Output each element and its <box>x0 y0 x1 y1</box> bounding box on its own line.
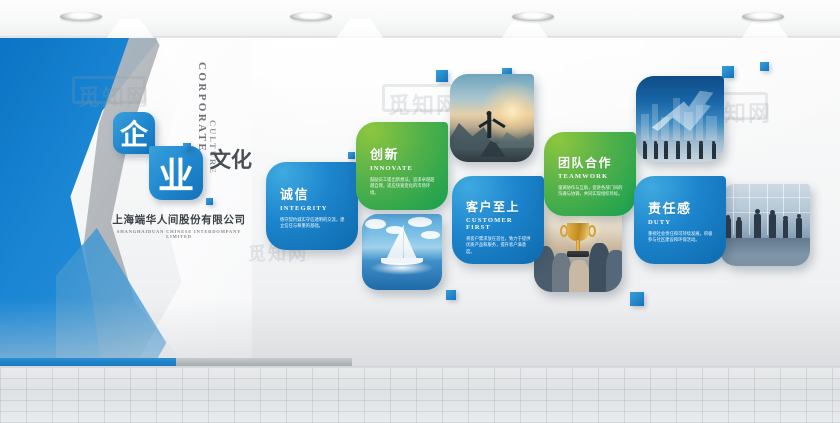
card-body-integrity: 恪守契约诚实守信透明的交流，建立信任与尊重的基础。 <box>280 218 346 231</box>
card-title-teamwork: 团队合作 <box>558 154 624 171</box>
card-body-customer-first: 将客户需求放在首位，致力于提供优质产品和服务，提升客户满意度。 <box>466 237 532 256</box>
photo-sailboat-ocean <box>362 214 442 290</box>
photo-mountain-success <box>450 74 534 162</box>
floor <box>0 368 840 423</box>
card-content-innovate: 创新 INNOVATE 鼓励员工提出新想法，追求卓越超越自我，适应快速变化的市场… <box>370 144 436 197</box>
vertical-text-corporate: CORPORATE <box>196 62 208 153</box>
title-text-wenhua: 文化 <box>210 148 256 173</box>
photo-city-image <box>636 76 724 162</box>
card-subtitle-integrity: INTEGRITY <box>280 205 346 212</box>
card-title-innovate: 创新 <box>370 144 436 163</box>
decor-square-2 <box>206 198 213 205</box>
ceiling-spotlight-3 <box>512 12 554 21</box>
decor-square-4 <box>436 70 448 82</box>
card-content-customer-first: 客户至上 CUSTOMER FIRST 将客户需求放在首位，致力于提供优质产品和… <box>466 198 532 256</box>
photo-mountain-image <box>450 74 534 162</box>
card-subtitle-innovate: INNOVATE <box>370 165 436 172</box>
photo-office-handshake <box>720 184 810 266</box>
card-subtitle-duty: DUTY <box>648 219 714 226</box>
culture-card-innovate[interactable]: 创新 INNOVATE 鼓励员工提出新想法，追求卓越超越自我，适应快速变化的市场… <box>356 122 448 210</box>
photo-office-image <box>720 184 810 266</box>
culture-wall-scene: 觅知网 觅知网 觅知网 觅知网 CORPORATE CULTURE 企 业 文化… <box>0 0 840 423</box>
card-body-innovate: 鼓励员工提出新想法，追求卓越超越自我，适应快速变化的市场环境。 <box>370 178 436 197</box>
card-subtitle-customer-first: CUSTOMER FIRST <box>466 217 532 231</box>
culture-card-customer-first[interactable]: 客户至上 CUSTOMER FIRST 将客户需求放在首位，致力于提供优质产品和… <box>452 176 544 264</box>
card-content-teamwork: 团队合作 TEAMWORK 强调协作与互助，促进各部门间的沟通与协调，共同实现组… <box>558 154 624 199</box>
decor-square-9 <box>760 62 769 71</box>
ceiling-spotlight-2 <box>290 12 332 21</box>
decor-square-1 <box>183 143 191 151</box>
ceiling <box>0 0 840 38</box>
ceiling-spotlight-1 <box>60 12 102 21</box>
watermark-frame-1 <box>72 76 146 104</box>
company-name-block: 上海端华人间股份有限公司 SHANGHAIDUAN CHINESE INTERD… <box>104 212 254 239</box>
card-title-customer-first: 客户至上 <box>466 198 532 215</box>
decor-square-6 <box>446 290 456 300</box>
card-content-duty: 责任感 DUTY 重视社会责任和可持续发展，积极参与社区建设和环保活动。 <box>648 198 714 245</box>
photo-sailboat-image <box>362 214 442 290</box>
company-name-en: SHANGHAIDUAN CHINESE INTERDOMPANY LIMITE… <box>104 229 254 239</box>
card-content-integrity: 诚信 INTEGRITY 恪守契约诚实守信透明的交流，建立信任与尊重的基础。 <box>280 184 346 231</box>
title-tile-ye: 业 <box>149 146 203 200</box>
decor-square-7 <box>630 292 644 306</box>
decor-square-3 <box>348 152 355 159</box>
watermark-frame-2 <box>382 84 456 112</box>
photo-city-growth <box>636 76 724 162</box>
photo-team-trophy <box>534 204 622 292</box>
culture-card-teamwork[interactable]: 团队合作 TEAMWORK 强调协作与互助，促进各部门间的沟通与协调，共同实现组… <box>544 132 636 216</box>
card-body-duty: 重视社会责任和可持续发展，积极参与社区建设和环保活动。 <box>648 232 714 245</box>
ceiling-spotlight-4 <box>742 12 784 21</box>
card-title-duty: 责任感 <box>648 198 714 217</box>
photo-trophy-image <box>534 204 622 292</box>
culture-card-duty[interactable]: 责任感 DUTY 重视社会责任和可持续发展，积极参与社区建设和环保活动。 <box>634 176 726 264</box>
card-title-integrity: 诚信 <box>280 184 346 203</box>
card-subtitle-teamwork: TEAMWORK <box>558 173 624 180</box>
culture-card-integrity[interactable]: 诚信 INTEGRITY 恪守契约诚实守信透明的交流，建立信任与尊重的基础。 <box>266 162 358 250</box>
card-body-teamwork: 强调协作与互助，促进各部门间的沟通与协调，共同实现组织目标。 <box>558 186 624 199</box>
company-name-cn: 上海端华人间股份有限公司 <box>104 212 254 227</box>
